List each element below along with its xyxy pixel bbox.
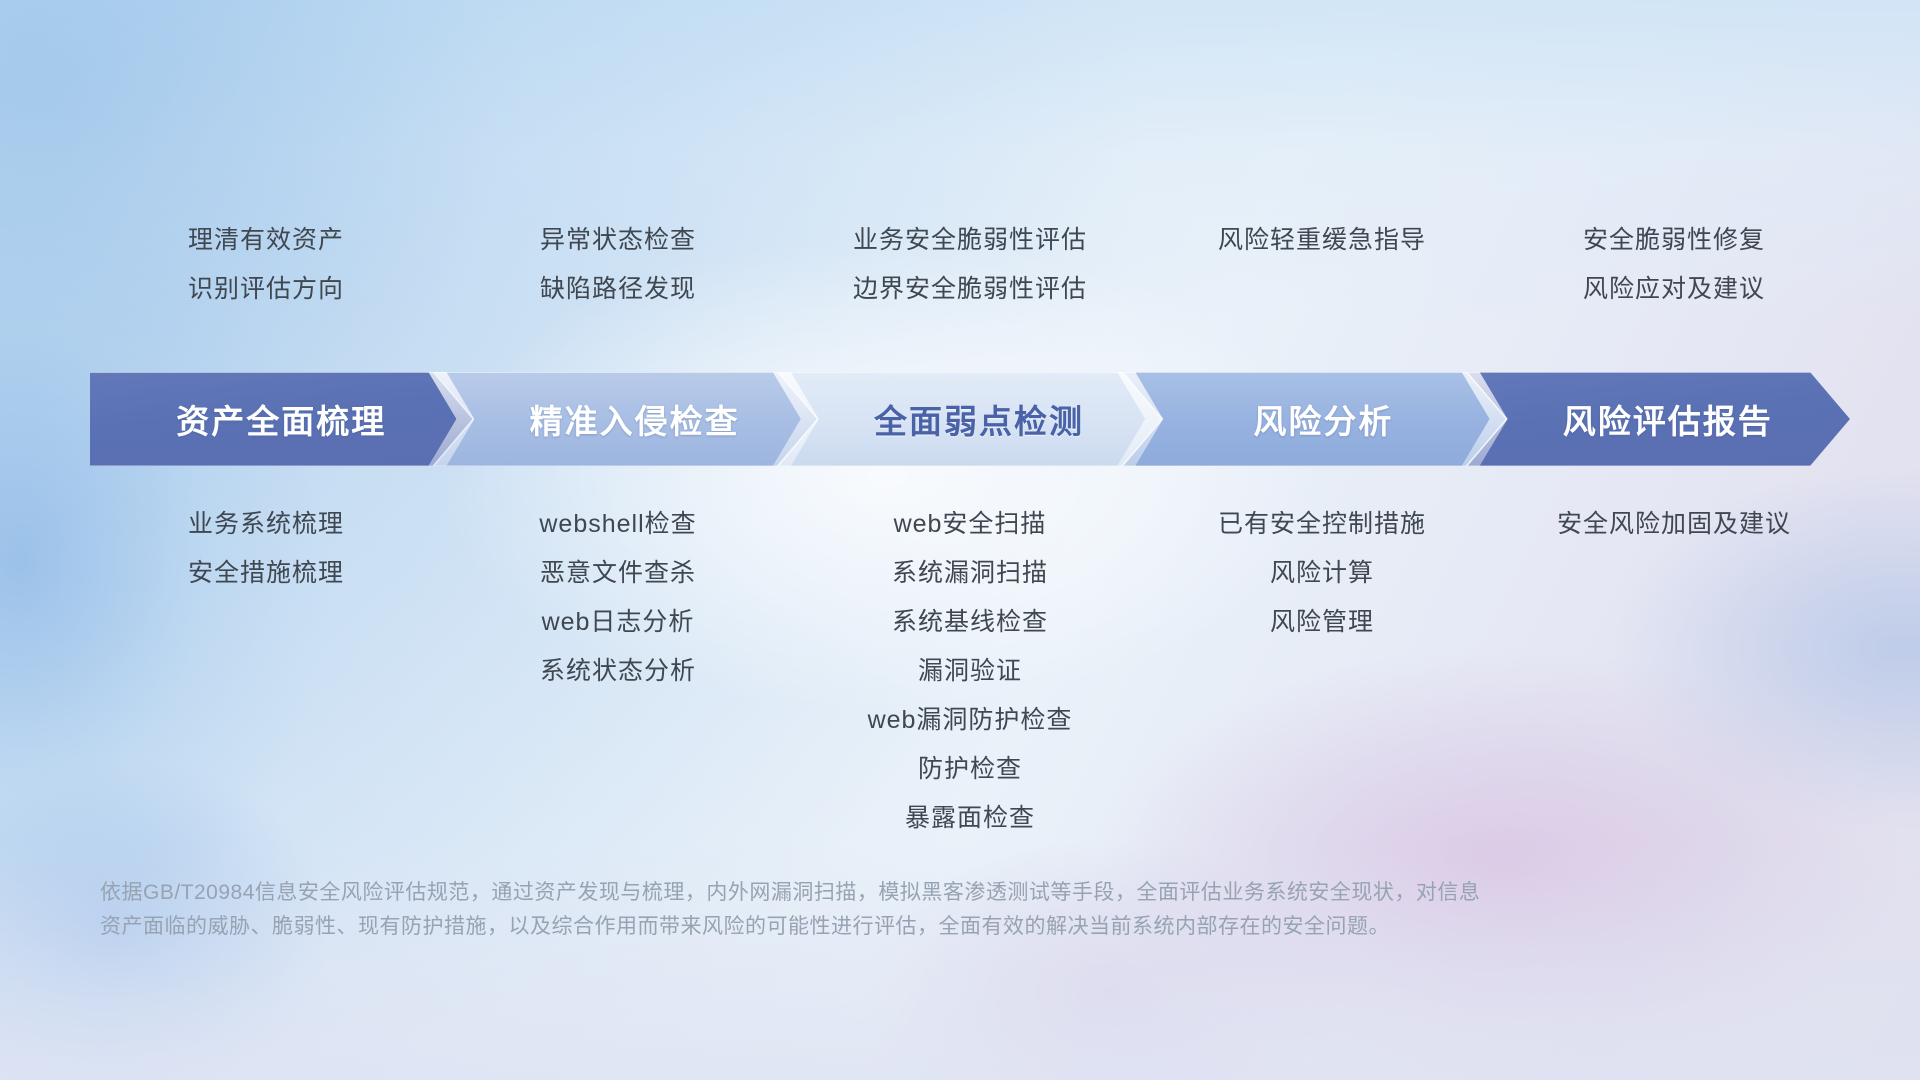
stage-activity-item: 防护检查 [918, 757, 1022, 782]
stage-4-bottom_items-list: 已有安全控制措施风险计算风险管理 [1146, 512, 1498, 635]
stage-activity-item: 恶意文件查杀 [540, 561, 696, 586]
stage-activity-item: 业务系统梳理 [188, 512, 344, 537]
stage-activity-item: 系统状态分析 [540, 659, 696, 684]
footer-line-2: 资产面临的威胁、脆弱性、现有防护措施，以及综合作用而带来风险的可能性进行评估，全… [100, 910, 1640, 944]
stage-output-item: 识别评估方向 [188, 277, 344, 302]
process-stage-1[interactable]: 资产全面梳理 [90, 372, 472, 466]
stage-output-item: 安全脆弱性修复 [1583, 228, 1765, 253]
footer-line-1: 依据GB/T20984信息安全风险评估规范，通过资产发现与梳理，内外网漏洞扫描，… [100, 876, 1640, 910]
stage-title: 风险评估报告 [1563, 395, 1773, 443]
stage-activity-item: 安全风险加固及建议 [1557, 512, 1791, 537]
process-stage-4[interactable]: 风险分析 [1123, 372, 1505, 466]
stage-activity-item: web漏洞防护检查 [868, 708, 1073, 733]
stage-activity-item: 安全措施梳理 [188, 561, 344, 586]
stage-4-top_items-list: 风险轻重缓急指导 [1146, 228, 1498, 302]
process-chevron-banner: 资产全面梳理精准入侵检查全面弱点检测风险分析风险评估报告 [90, 372, 1850, 466]
stage-activity-item: 风险管理 [1270, 610, 1374, 635]
stage-5-top_items-list: 安全脆弱性修复风险应对及建议 [1498, 228, 1850, 302]
stage-1-bottom_items-list: 业务系统梳理安全措施梳理 [90, 512, 442, 586]
stage-activity-item: webshell检查 [539, 512, 696, 537]
stage-activity-item: 漏洞验证 [918, 659, 1022, 684]
stage-activity-item: 暴露面检查 [905, 806, 1035, 831]
stage-title: 资产全面梳理 [176, 395, 386, 443]
stage-output-item: 业务安全脆弱性评估 [853, 228, 1087, 253]
stage-output-item: 缺陷路径发现 [540, 277, 696, 302]
stage-output-item: 异常状态检查 [540, 228, 696, 253]
stage-title: 精准入侵检查 [530, 395, 740, 443]
stage-activity-item: web日志分析 [542, 610, 695, 635]
stage-3-bottom_items-list: web安全扫描系统漏洞扫描系统基线检查漏洞验证web漏洞防护检查防护检查暴露面检… [794, 512, 1146, 831]
stage-activities-bottom-row: 业务系统梳理安全措施梳理webshell检查恶意文件查杀web日志分析系统状态分… [90, 512, 1850, 831]
stage-3-top_items-list: 业务安全脆弱性评估边界安全脆弱性评估 [794, 228, 1146, 302]
stage-title: 风险分析 [1253, 395, 1393, 443]
stage-activity-item: 系统基线检查 [892, 610, 1048, 635]
stage-1-top_items-list: 理清有效资产识别评估方向 [90, 228, 442, 302]
stage-output-item: 风险轻重缓急指导 [1218, 228, 1426, 253]
stage-activity-item: web安全扫描 [894, 512, 1047, 537]
stage-title: 全面弱点检测 [874, 395, 1084, 443]
stage-activity-item: 系统漏洞扫描 [892, 561, 1048, 586]
stage-activity-item: 风险计算 [1270, 561, 1374, 586]
stage-activity-item: 已有安全控制措施 [1218, 512, 1426, 537]
stage-2-top_items-list: 异常状态检查缺陷路径发现 [442, 228, 794, 302]
slide-content: 理清有效资产识别评估方向异常状态检查缺陷路径发现业务安全脆弱性评估边界安全脆弱性… [0, 0, 1920, 1080]
process-stage-3[interactable]: 全面弱点检测 [779, 372, 1161, 466]
stage-outputs-top-row: 理清有效资产识别评估方向异常状态检查缺陷路径发现业务安全脆弱性评估边界安全脆弱性… [90, 228, 1850, 302]
process-stage-5[interactable]: 风险评估报告 [1468, 372, 1850, 466]
footer-description: 依据GB/T20984信息安全风险评估规范，通过资产发现与梳理，内外网漏洞扫描，… [100, 876, 1640, 944]
stage-2-bottom_items-list: webshell检查恶意文件查杀web日志分析系统状态分析 [442, 512, 794, 684]
stage-output-item: 风险应对及建议 [1583, 277, 1765, 302]
stage-5-bottom_items-list: 安全风险加固及建议 [1498, 512, 1850, 537]
stage-output-item: 理清有效资产 [188, 228, 344, 253]
process-stage-2[interactable]: 精准入侵检查 [434, 372, 816, 466]
stage-output-item: 边界安全脆弱性评估 [853, 277, 1087, 302]
